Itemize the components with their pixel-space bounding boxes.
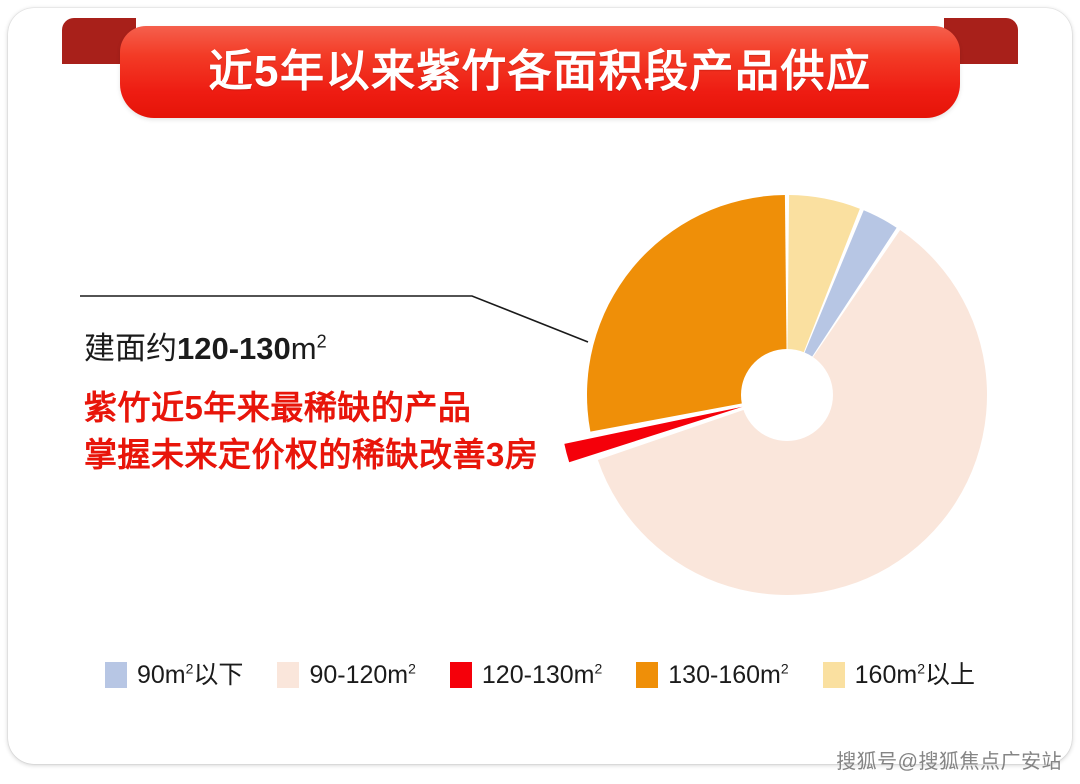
callout-highlight-line-1: 紫竹近5年来最稀缺的产品	[84, 385, 684, 432]
legend-label: 120-130m2	[482, 663, 602, 688]
legend-item[interactable]: 90-120m2	[277, 662, 415, 688]
legend-item[interactable]: 130-160m2	[636, 662, 788, 688]
legend-label: 160m2以上	[855, 663, 975, 688]
legend-label-superscript: 2	[186, 660, 194, 676]
legend-label-superscript: 2	[594, 660, 602, 676]
legend-swatch	[450, 662, 472, 688]
legend-item[interactable]: 120-130m2	[450, 662, 602, 688]
legend-item[interactable]: 160m2以上	[823, 662, 975, 688]
legend-label-superscript: 2	[917, 660, 925, 676]
legend-swatch	[823, 662, 845, 688]
callout-head-value: 120-130	[177, 331, 291, 366]
legend-item[interactable]: 90m2以下	[105, 662, 243, 688]
legend-swatch	[277, 662, 299, 688]
legend-label-superscript: 2	[781, 660, 789, 676]
legend-swatch	[105, 662, 127, 688]
callout-text-block: 建面约120-130m2 紫竹近5年来最稀缺的产品 掌握未来定价权的稀缺改善3房	[84, 330, 684, 478]
callout-head-unit: m	[291, 331, 317, 366]
callout-head-unit-sup: 2	[317, 332, 327, 352]
legend-swatch	[636, 662, 658, 688]
callout-highlight-line-2: 掌握未来定价权的稀缺改善3房	[84, 432, 684, 479]
callout-heading: 建面约120-130m2	[84, 330, 684, 369]
legend-label: 130-160m2	[668, 663, 788, 688]
chart-legend: 90m2以下90-120m2120-130m2130-160m2160m2以上	[0, 662, 1080, 688]
legend-label: 90m2以下	[137, 663, 243, 688]
legend-label-superscript: 2	[408, 660, 416, 676]
watermark: 搜狐号@搜狐焦点广安站	[836, 745, 1062, 774]
donut-center-hole	[741, 349, 833, 441]
legend-label: 90-120m2	[309, 663, 415, 688]
callout-head-prefix: 建面约	[84, 331, 177, 366]
